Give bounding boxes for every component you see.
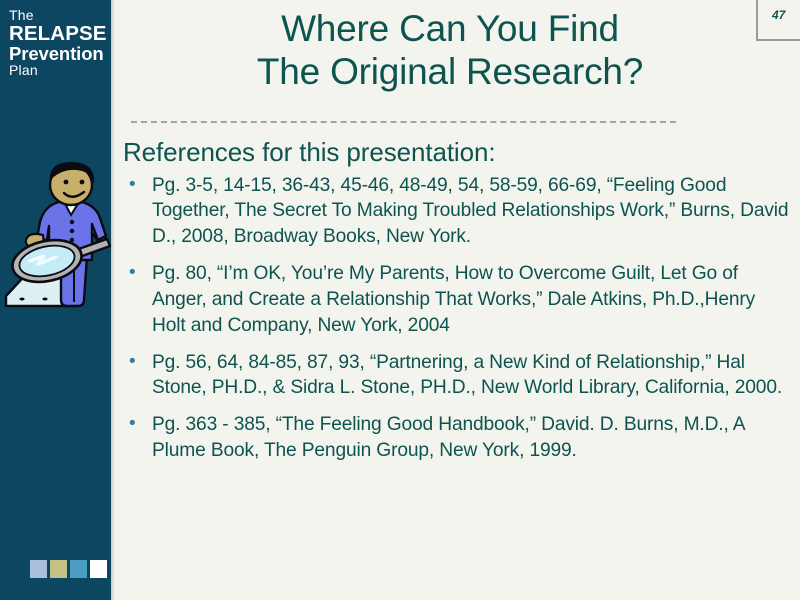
bullet-icon: •: [129, 411, 136, 437]
title-line-2: The Original Research?: [130, 51, 770, 94]
list-item: • Pg. 80, “I’m OK, You’re My Parents, Ho…: [121, 261, 789, 338]
logo-line-plan: Plan: [9, 63, 109, 78]
bullet-icon: •: [129, 172, 136, 198]
bullet-icon: •: [129, 349, 136, 375]
list-item: • Pg. 363 - 385, “The Feeling Good Handb…: [121, 412, 789, 464]
head-shape: [50, 162, 94, 205]
slide-body: References for this presentation: • Pg. …: [121, 138, 789, 475]
list-item: • Pg. 56, 64, 84-85, 87, 93, “Partnering…: [121, 350, 789, 402]
reference-text: Pg. 80, “I’m OK, You’re My Parents, How …: [152, 263, 755, 336]
reference-text: Pg. 363 - 385, “The Feeling Good Handboo…: [152, 414, 744, 461]
swatch-light-blue: [30, 560, 47, 578]
references-list: • Pg. 3-5, 14-15, 36-43, 45-46, 48-49, 5…: [121, 173, 789, 464]
swatch-blue: [70, 560, 87, 578]
swatch-white: [90, 560, 107, 578]
reference-text: Pg. 56, 64, 84-85, 87, 93, “Partnering, …: [152, 352, 782, 399]
title-dashed-divider: [131, 121, 676, 123]
bullet-icon: •: [129, 260, 136, 286]
page-number: 47: [772, 8, 785, 22]
man-with-magnifying-glass-icon: [4, 160, 114, 335]
brand-logo: The RELAPSE Prevention Plan: [9, 8, 109, 78]
list-item: • Pg. 3-5, 14-15, 36-43, 45-46, 48-49, 5…: [121, 173, 789, 250]
swatch-row: [30, 560, 107, 578]
reference-text: Pg. 3-5, 14-15, 36-43, 45-46, 48-49, 54,…: [152, 175, 788, 248]
slide: The RELAPSE Prevention Plan: [0, 0, 800, 600]
logo-line-the: The: [9, 8, 109, 23]
slide-title: Where Can You Find The Original Research…: [130, 8, 770, 94]
swatch-olive: [50, 560, 67, 578]
logo-line-prevention: Prevention: [9, 44, 109, 63]
logo-line-relapse: RELAPSE: [9, 23, 109, 44]
title-line-1: Where Can You Find: [130, 8, 770, 51]
references-intro: References for this presentation:: [123, 138, 789, 167]
